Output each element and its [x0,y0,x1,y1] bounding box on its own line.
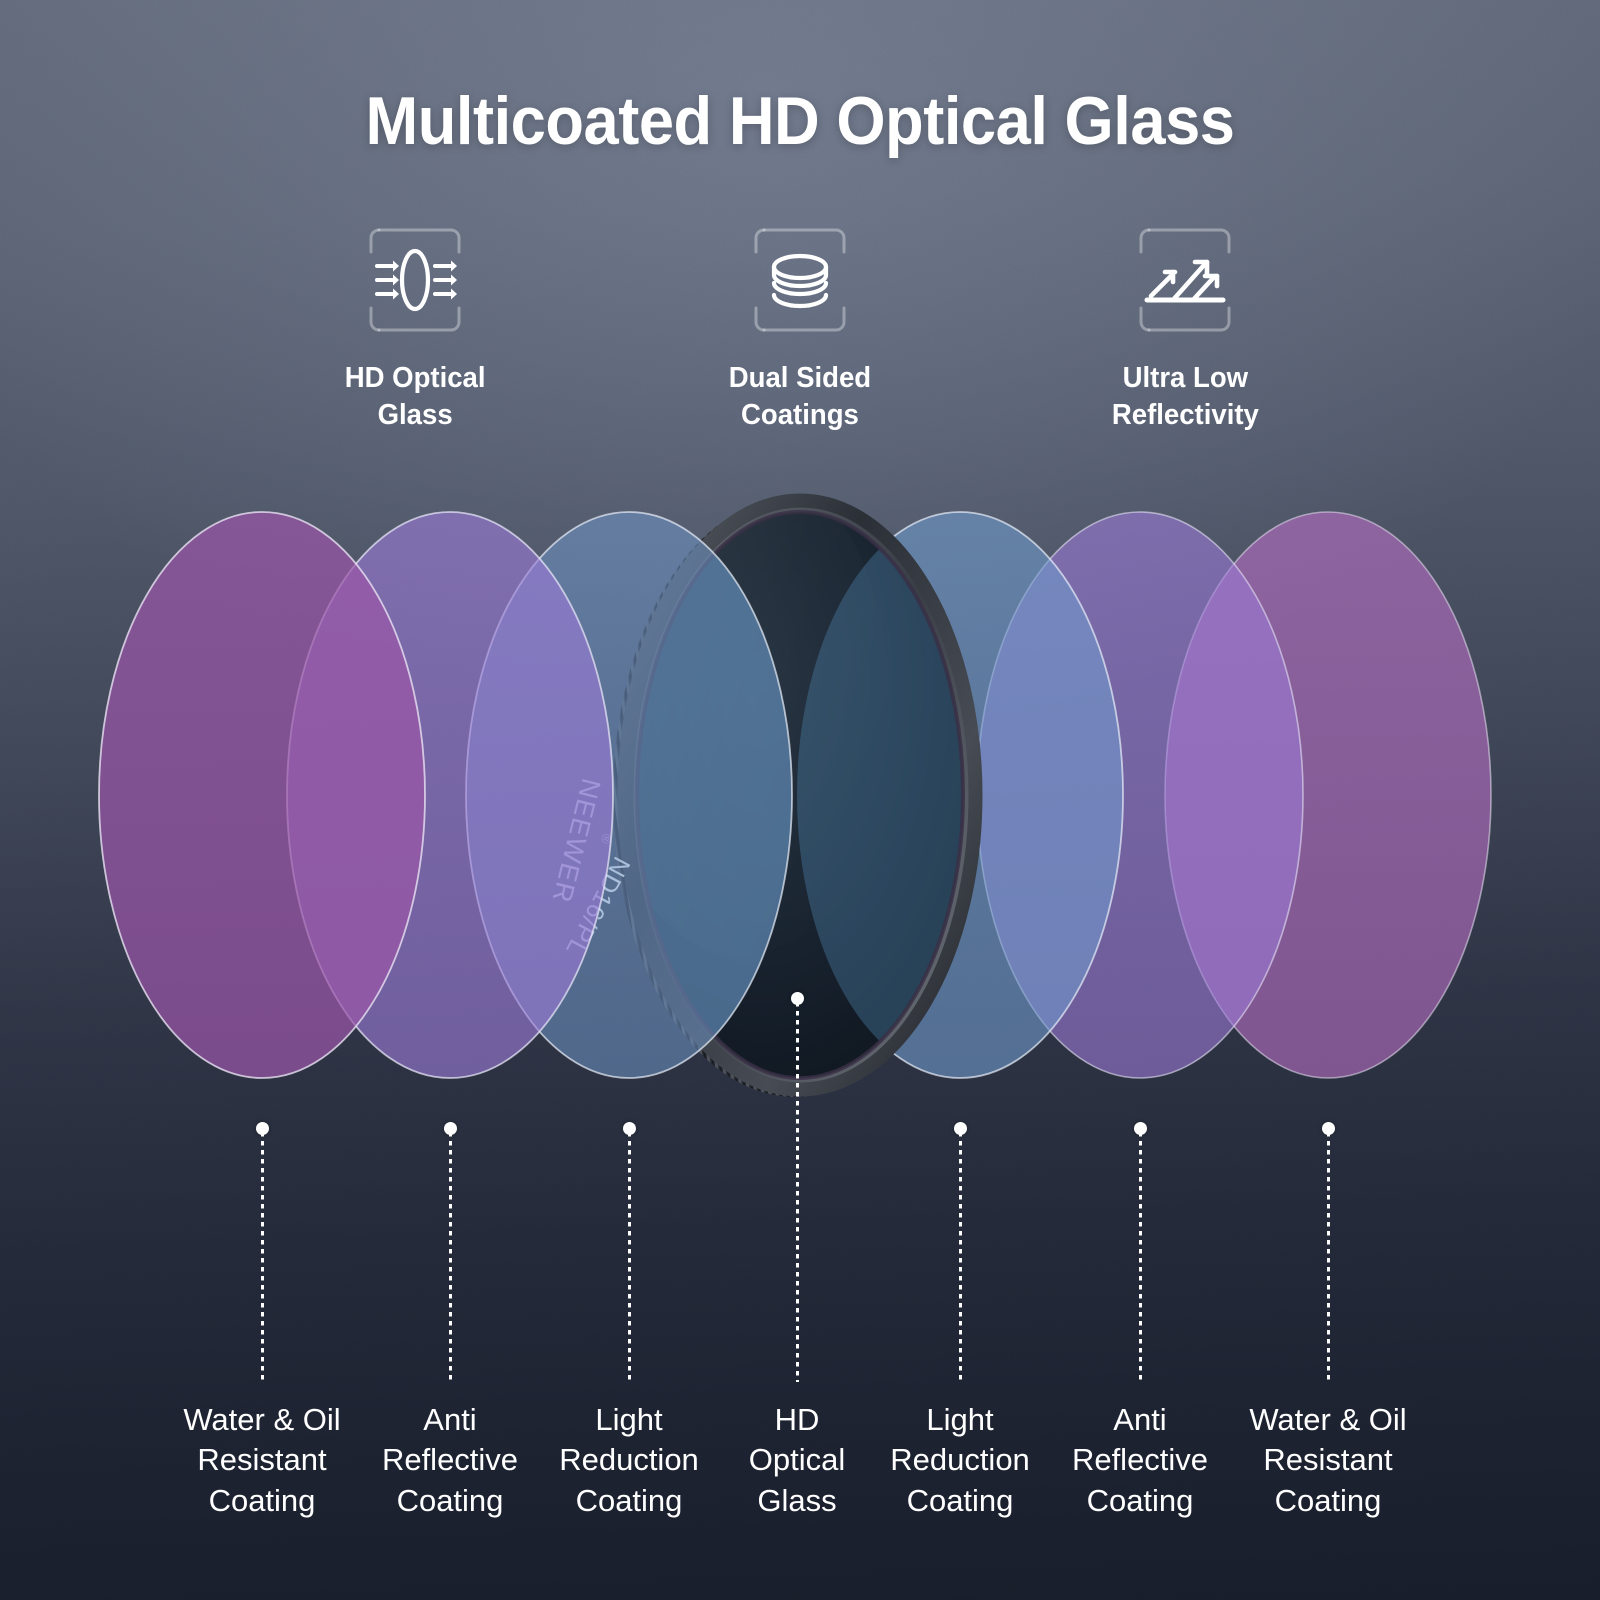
callout-line-light-reduction-left [628,1132,631,1382]
callout-label-line3: Coating [1275,1483,1382,1518]
feature-label-ultra-low-reflectivity: Ultra Low Reflectivity [1111,360,1258,434]
lens-light-transmission-icon [357,222,473,338]
feature-hd-optical-glass: HD Optical Glass [265,222,565,434]
feature-label-hd-optical-glass: HD Optical Glass [345,360,486,434]
feature-label-dual-sided-coatings: Dual Sided Coatings [729,360,871,434]
callout-label-line1: Light [926,1402,993,1437]
feature-dual-sided-coatings: Dual Sided Coatings [650,222,950,434]
feature-label-line2: Reflectivity [1111,399,1258,431]
callout-line-hd-optical-glass [796,1002,799,1382]
feature-ultra-low-reflectivity: Ultra Low Reflectivity [1035,222,1335,434]
callout-label-line1: Anti [423,1402,476,1437]
callout-line-water-oil-right [1327,1132,1330,1382]
callout-label-line1: HD [775,1402,820,1437]
page-title: Multicoated HD Optical Glass [56,82,1544,160]
callout-label-line2: Reduction [890,1442,1030,1477]
disc-water-oil-left [99,512,425,1078]
callout-label-line3: Coating [907,1483,1014,1518]
callout-label-line3: Coating [397,1483,504,1518]
feature-label-line1: Ultra Low [1122,362,1248,394]
stacked-discs-coatings-icon [742,222,858,338]
feature-row: HD Optical Glass [265,222,1335,434]
lens-layer-stack: NEEWER ® ND16/PL [0,455,1600,1135]
light-reflection-arrows-icon [1127,222,1243,338]
feature-label-line2: Coatings [741,399,859,431]
callout-label-line1: Water & Oil [1249,1402,1406,1437]
callout-label-line1: Water & Oil [183,1402,340,1437]
callout-label-line1: Light [595,1402,662,1437]
callout-label-line2: Resistant [1263,1442,1392,1477]
callout-label-line2: Reflective [1072,1442,1208,1477]
callout-label-line3: Coating [1087,1483,1194,1518]
callout-line-anti-reflective-left [449,1132,452,1382]
callout-line-light-reduction-right [959,1132,962,1382]
feature-label-line1: HD Optical [345,362,486,394]
callout-line-water-oil-left [261,1132,264,1382]
feature-label-line1: Dual Sided [729,362,871,394]
callout-label-line1: Anti [1113,1402,1166,1437]
callout-label-line2: Optical [749,1442,845,1477]
callout-label-line2: Resistant [197,1442,326,1477]
callout-label-line2: Reflective [382,1442,518,1477]
feature-label-line2: Glass [377,399,452,431]
callout-label-water-oil-right: Water & OilResistantCoating [1213,1400,1443,1521]
callout-label-line3: Glass [757,1483,836,1518]
callout-label-line2: Reduction [559,1442,699,1477]
infographic-canvas: Multicoated HD Optical Glass [0,0,1600,1600]
callout-label-line3: Coating [576,1483,683,1518]
callout-line-anti-reflective-right [1139,1132,1142,1382]
callout-label-line3: Coating [209,1483,316,1518]
